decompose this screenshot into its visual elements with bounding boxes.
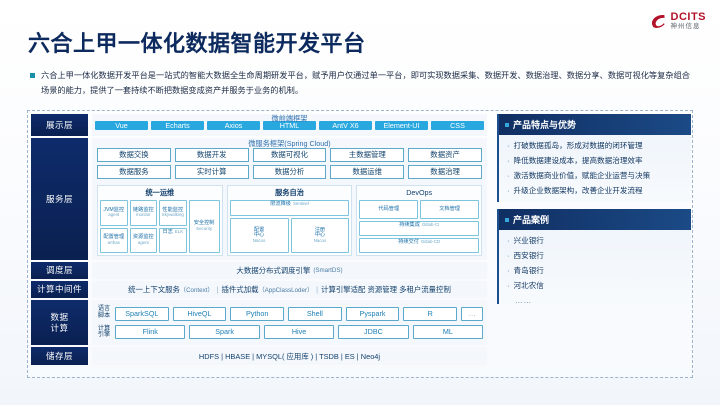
doc-management-item[interactable]: 文档管理 bbox=[420, 200, 479, 219]
middleware-plugin-en: （AppClassLoder） bbox=[258, 285, 313, 294]
card-header: 产品案例 bbox=[499, 209, 691, 230]
list-item: · 河北农信 bbox=[507, 281, 683, 290]
scheduling-panel: 大数据分布式调度引擎 (SmartDS) bbox=[92, 262, 487, 279]
list-item: · 兴业银行 bbox=[507, 236, 683, 245]
service-module[interactable]: 数据开发 bbox=[175, 148, 249, 162]
group-body: 限流降级 Sentinel 配置 中心 Nacos bbox=[230, 198, 350, 253]
list-item: · 西安银行 bbox=[507, 251, 683, 260]
storage-list: HDFS | HBASE | MYSQL( 应用库 ) | TSDB | ES … bbox=[92, 347, 487, 365]
language-chip[interactable]: Pyspark bbox=[346, 307, 400, 321]
group-unified-ops: 统一运维 JVM监控 agent bbox=[97, 185, 223, 256]
layer-label-compute: 数据 计算 bbox=[31, 300, 88, 345]
scheduling-engine-cn: 大数据分布式调度引擎 bbox=[236, 265, 310, 276]
list-item-label: 升级企业数据架构，改善企业开发流程 bbox=[514, 186, 643, 195]
middleware-panel: 统一上下文服务 （Context） | 插件式加载 （AppClassLoder… bbox=[92, 281, 487, 298]
ops-wrap: JVM监控 agent 链路监控 monitor bbox=[100, 200, 220, 253]
ci-cn: 持续集成 bbox=[399, 223, 420, 228]
card-body: · 打破数据孤岛，形成对数据的闭环管理 · 降低数据建设成本，提高数据治理效率 … bbox=[499, 135, 691, 209]
registry-row: 配置 中心 Nacos 注册 中心 Nacos bbox=[230, 218, 350, 253]
list-item: · 激活数据商业价值，赋能企业运营与决策 bbox=[507, 171, 683, 180]
engine-chip[interactable]: Hive bbox=[264, 325, 334, 339]
ops-item[interactable]: 资源监控 agent bbox=[130, 228, 158, 254]
page-title: 六合上甲一体化数据智能开发平台 bbox=[28, 26, 366, 58]
service-module[interactable]: 数据分析 bbox=[253, 165, 327, 179]
slide: DCITS 神州信息 六合上甲一体化数据智能开发平台 六合上甲一体化数据开发平台… bbox=[0, 0, 720, 405]
ops-grid: JVM监控 agent 链路监控 monitor bbox=[100, 200, 187, 253]
code-management-item[interactable]: 代码管理 bbox=[359, 200, 418, 219]
doc-management-cn: 文档管理 bbox=[439, 207, 460, 212]
group-title: 统一运维 bbox=[100, 188, 220, 198]
brand-text: DCITS 神州信息 bbox=[671, 12, 707, 31]
scheduling-engine-en: (SmartDS) bbox=[313, 267, 342, 274]
config-center-item[interactable]: 配置 中心 Nacos bbox=[230, 218, 289, 253]
engine-row: Flink Spark Hive JDBC ML bbox=[115, 325, 483, 339]
layer-storage: 储存层 HDFS | HBASE | MYSQL( 应用库 ) | TSDB |… bbox=[31, 347, 487, 365]
service-module[interactable]: 数据交换 bbox=[97, 148, 171, 162]
dot-bullet-icon: · bbox=[507, 156, 510, 165]
group-title: DevOps bbox=[359, 188, 479, 198]
ci-item[interactable]: 持续集成 Gitlab-CI bbox=[359, 221, 479, 236]
square-bullet-icon bbox=[505, 123, 509, 127]
rate-limit-cn: 限流降级 bbox=[270, 202, 291, 207]
dot-bullet-icon: · bbox=[507, 266, 510, 275]
ci-en: Gitlab-CI bbox=[422, 223, 439, 228]
language-chip[interactable]: SparkSQL bbox=[115, 307, 169, 321]
layer-label-scheduling: 调度层 bbox=[31, 262, 88, 279]
compute-side-engine: 计算 引擎 bbox=[96, 326, 112, 340]
layer-label-presentation: 展示层 bbox=[31, 114, 88, 136]
dot-bullet-icon: · bbox=[507, 236, 510, 245]
service-module[interactable]: 数据服务 bbox=[97, 165, 171, 179]
ops-item[interactable]: 日志 ELK bbox=[159, 228, 187, 254]
layer-label-compute-l1: 数据 bbox=[50, 312, 68, 323]
service-module[interactable]: 数据资产 bbox=[408, 148, 482, 162]
bullet-square-icon bbox=[30, 73, 35, 78]
list-item-label: 降低数据建设成本，提高数据治理效率 bbox=[514, 156, 643, 165]
dot-bullet-icon: · bbox=[507, 171, 510, 180]
list-item-label: 打破数据孤岛，形成对数据的闭环管理 bbox=[514, 141, 643, 150]
ops-item-en: arthas bbox=[108, 241, 120, 246]
rate-limit-item[interactable]: 限流降级 Sentinel bbox=[230, 200, 350, 216]
group-devops: DevOps 代码管理 文档管理 bbox=[356, 185, 482, 256]
layer-scheduling: 调度层 大数据分布式调度引擎 (SmartDS) bbox=[31, 262, 487, 279]
group-body: 代码管理 文档管理 持续集成 Gitlab-CI bbox=[359, 198, 479, 253]
list-item: · 打破数据孤岛，形成对数据的闭环管理 bbox=[507, 141, 683, 150]
code-management-cn: 代码管理 bbox=[378, 207, 399, 212]
group-service-autonomy: 服务自治 限流降级 Sentinel 配置 中心 bbox=[227, 185, 353, 256]
dcits-swirl-icon bbox=[650, 13, 667, 30]
ops-item-en: ELK bbox=[175, 230, 183, 235]
service-body: 数据交换 数据开发 数据可视化 主数据管理 数据资产 数据服务 实时计算 数据分… bbox=[92, 138, 487, 260]
scheduling-engine: 大数据分布式调度引擎 (SmartDS) bbox=[92, 262, 487, 279]
compute-side-language: 语言 脚本 bbox=[96, 306, 112, 320]
card-cases: 产品案例 · 兴业银行 · 西安银行 · 青岛银行 · 河北农信 bbox=[497, 209, 691, 304]
service-module-row: 数据服务 实时计算 数据分析 数据运维 数据治理 bbox=[97, 165, 482, 179]
card-advantages: 产品特点与优势 · 打破数据孤岛，形成对数据的闭环管理 · 降低数据建设成本，提… bbox=[497, 114, 691, 202]
cd-cn: 持续交付 bbox=[398, 240, 419, 245]
ops-side: 安全控制 Security bbox=[189, 200, 220, 253]
ops-row: JVM监控 agent 链路监控 monitor bbox=[100, 200, 187, 226]
brand-logo: DCITS 神州信息 bbox=[650, 12, 707, 31]
service-module[interactable]: 实时计算 bbox=[175, 165, 249, 179]
list-item: · 升级企业数据架构，改善企业开发流程 bbox=[507, 186, 683, 195]
side-engine-l2: 引擎 bbox=[96, 332, 112, 339]
registry-center-en: Nacos bbox=[314, 239, 326, 244]
language-row: SparkSQL HiveQL Python Shell Pyspark R … bbox=[115, 307, 483, 321]
service-module[interactable]: 数据治理 bbox=[408, 165, 482, 179]
engine-chip[interactable]: Spark bbox=[189, 325, 259, 339]
service-panel: 数据交换 数据开发 数据可视化 主数据管理 数据资产 数据服务 实时计算 数据分… bbox=[92, 138, 487, 260]
card-body: · 兴业银行 · 西安银行 · 青岛银行 · 河北农信 …… bbox=[499, 230, 691, 313]
language-chip[interactable]: Shell bbox=[288, 307, 342, 321]
cd-item[interactable]: 持续交付 Gitlab-CD bbox=[359, 238, 479, 253]
card-title: 产品特点与优势 bbox=[513, 118, 576, 131]
brand-name-en: DCITS bbox=[671, 12, 707, 23]
list-item-label: 河北农信 bbox=[514, 281, 544, 290]
ops-item[interactable]: JVM监控 agent bbox=[100, 200, 128, 226]
architecture-diagram: 展示层 Vue Echarts Axios HTML AntV X6 Eleme… bbox=[31, 114, 487, 374]
language-more-chip[interactable]: … bbox=[461, 307, 483, 321]
ops-item[interactable]: 配置管理 arthas bbox=[100, 228, 128, 254]
dot-bullet-icon: · bbox=[507, 281, 510, 290]
ops-item-en: agent bbox=[138, 241, 149, 246]
list-item-label: 兴业银行 bbox=[514, 236, 544, 245]
language-chip[interactable]: R bbox=[403, 307, 457, 321]
side-panels: 产品特点与优势 · 打破数据孤岛，形成对数据的闭环管理 · 降低数据建设成本，提… bbox=[497, 114, 691, 311]
service-module-grid: 数据交换 数据开发 数据可视化 主数据管理 数据资产 数据服务 实时计算 数据分… bbox=[97, 148, 482, 179]
layer-compute: 数据 计算 语言 脚本 计算 引擎 bbox=[31, 300, 487, 345]
presentation-caption-bottom: 微服务框架(Spring Cloud) bbox=[92, 139, 487, 148]
card-title: 产品案例 bbox=[513, 213, 549, 226]
square-bullet-icon bbox=[505, 218, 509, 222]
storage-panel: HDFS | HBASE | MYSQL( 应用库 ) | TSDB | ES … bbox=[92, 347, 487, 365]
cd-en: Gitlab-CD bbox=[421, 240, 440, 245]
cases-more: …… bbox=[507, 296, 683, 305]
language-chip[interactable]: HiveQL bbox=[173, 307, 227, 321]
layer-label-middleware: 计算中间件 bbox=[31, 281, 88, 298]
ops-item-en: monitor bbox=[136, 213, 151, 218]
compute-side-labels: 语言 脚本 计算 引擎 bbox=[96, 306, 112, 339]
rate-limit-en: Sentinel bbox=[293, 202, 309, 207]
ops-item[interactable]: 链路监控 monitor bbox=[130, 200, 158, 226]
service-group-row: 统一运维 JVM监控 agent bbox=[97, 185, 482, 256]
intro-block: 六合上甲一体化数据开发平台是一站式的智能大数据全生命周期研发平台，赋予用户仅通过… bbox=[30, 68, 690, 98]
layer-service: 服务层 数据交换 数据开发 数据可视化 主数据管理 数据资产 数据服务 bbox=[31, 138, 487, 260]
layer-middleware: 计算中间件 统一上下文服务 （Context） | 插件式加载 （AppClas… bbox=[31, 281, 487, 298]
middleware-context-en: （Context） bbox=[180, 285, 214, 294]
ops-item[interactable]: 性能监控 Skywalking bbox=[159, 200, 187, 226]
group-body: JVM监控 agent 链路监控 monitor bbox=[100, 198, 220, 253]
service-module-row: 数据交换 数据开发 数据可视化 主数据管理 数据资产 bbox=[97, 148, 482, 162]
compute-body: 语言 脚本 计算 引擎 SparkSQL HiveQL Python bbox=[92, 300, 487, 345]
dot-bullet-icon: · bbox=[507, 251, 510, 260]
separator: | bbox=[316, 285, 318, 294]
service-module[interactable]: 数据运维 bbox=[330, 165, 404, 179]
engine-chip[interactable]: JDBC bbox=[338, 325, 408, 339]
service-module[interactable]: 数据可视化 bbox=[253, 148, 327, 162]
list-item-label: 青岛银行 bbox=[514, 266, 544, 275]
engine-chip[interactable]: Flink bbox=[115, 325, 185, 339]
middleware-plugin-cn: 插件式加载 bbox=[222, 284, 259, 295]
middleware-context-cn: 统一上下文服务 bbox=[128, 284, 180, 295]
dot-bullet-icon: · bbox=[507, 141, 510, 150]
dot-bullet-icon: · bbox=[507, 186, 510, 195]
brand-name-cn: 神州信息 bbox=[671, 24, 707, 31]
ops-item-en: Skywalking bbox=[162, 213, 184, 218]
layer-label-storage: 储存层 bbox=[31, 347, 88, 365]
group-title: 服务自治 bbox=[230, 188, 350, 198]
security-control-item[interactable]: 安全控制 Security bbox=[189, 200, 220, 253]
layer-label-compute-l2: 计算 bbox=[50, 323, 68, 334]
registry-center-item[interactable]: 注册 中心 Nacos bbox=[291, 218, 350, 253]
list-item-label: 激活数据商业价值，赋能企业运营与决策 bbox=[514, 171, 651, 180]
security-en: Security bbox=[196, 227, 212, 232]
list-item: · 降低数据建设成本，提高数据治理效率 bbox=[507, 156, 683, 165]
intro-text: 六合上甲一体化数据开发平台是一站式的智能大数据全生命周期研发平台，赋予用户仅通过… bbox=[41, 68, 690, 98]
list-item-label: 西安银行 bbox=[514, 251, 544, 260]
compute-panel: 语言 脚本 计算 引擎 SparkSQL HiveQL Python bbox=[92, 300, 487, 345]
service-module[interactable]: 主数据管理 bbox=[330, 148, 404, 162]
card-header: 产品特点与优势 bbox=[499, 114, 691, 135]
middleware-features: 统一上下文服务 （Context） | 插件式加载 （AppClassLoder… bbox=[92, 281, 487, 298]
list-item: · 青岛银行 bbox=[507, 266, 683, 275]
ops-row: 配置管理 arthas 资源监控 agent bbox=[100, 228, 187, 254]
config-center-en: Nacos bbox=[253, 239, 265, 244]
ops-item-en: agent bbox=[108, 213, 119, 218]
language-chip[interactable]: Python bbox=[230, 307, 284, 321]
engine-chip[interactable]: ML bbox=[413, 325, 483, 339]
middleware-adapter-cn: 计算引擎适配 资源管理 多租户流量控制 bbox=[321, 284, 451, 295]
separator: | bbox=[217, 285, 219, 294]
presentation-caption-top: 微前端框架 bbox=[92, 114, 487, 123]
ops-item-cn: 日志 bbox=[162, 230, 172, 235]
side-language-l2: 脚本 bbox=[96, 313, 112, 320]
compute-rows: SparkSQL HiveQL Python Shell Pyspark R …… bbox=[115, 307, 483, 339]
devops-row: 代码管理 文档管理 bbox=[359, 200, 479, 219]
layer-label-service: 服务层 bbox=[31, 138, 88, 260]
